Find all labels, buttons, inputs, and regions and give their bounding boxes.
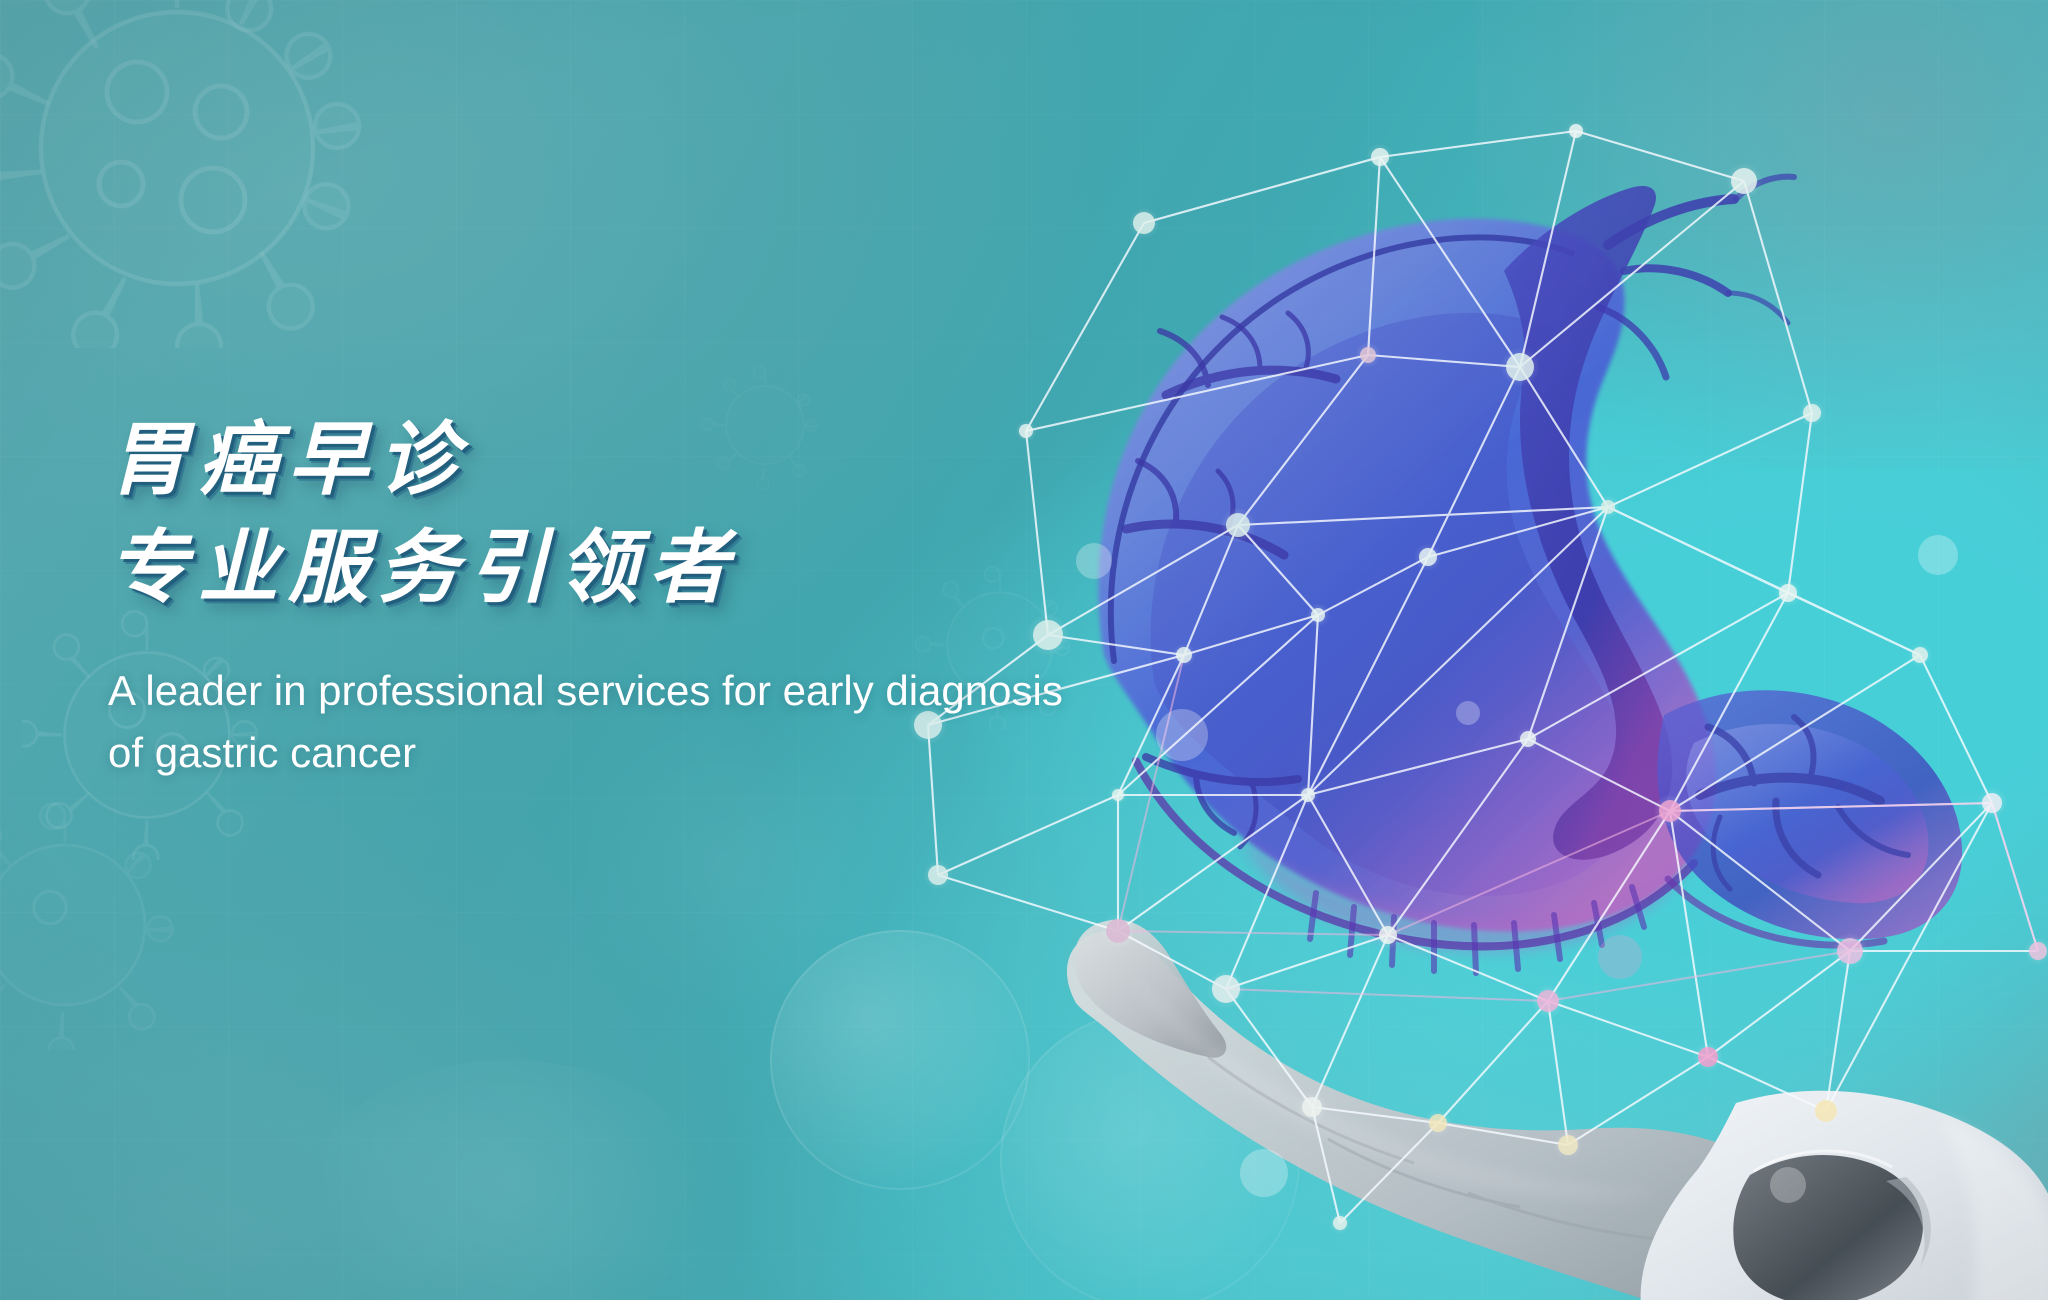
banner-text-block: 胃癌早诊 专业服务引领者 A leader in professional se… xyxy=(108,408,1168,784)
headline-line-1: 胃癌早诊 xyxy=(108,408,1168,512)
banner-subtitle: A leader in professional services for ea… xyxy=(108,660,1108,784)
banner-root: 胃癌早诊 专业服务引领者 A leader in professional se… xyxy=(0,0,2048,1300)
duodenum xyxy=(1657,690,1962,945)
headline-line-2: 专业服务引领者 xyxy=(108,516,1168,620)
